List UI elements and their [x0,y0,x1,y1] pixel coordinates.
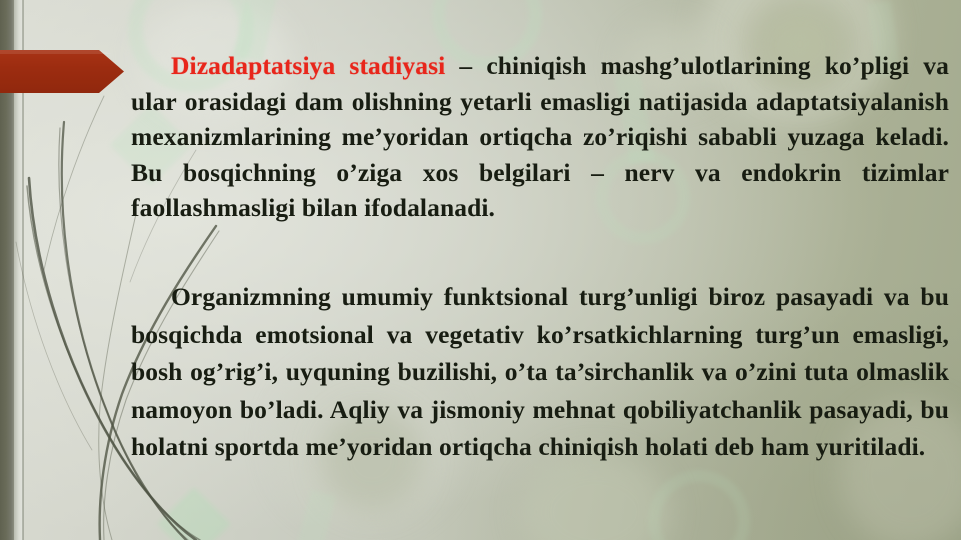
title-highlight: Dizadaptatsiya stadiyasi [171,51,445,80]
red-arrow-bullet [0,50,124,93]
slide-canvas: Dizadaptatsiya stadiyasi – chiniqish mas… [0,0,961,540]
paragraph-2-body: Organizmning umumiy funktsional turg’unl… [131,282,949,461]
body-paragraph-2: Organizmning umumiy funktsional turg’unl… [131,278,949,466]
body-paragraph-1: Dizadaptatsiya stadiyasi – chiniqish mas… [131,48,949,226]
